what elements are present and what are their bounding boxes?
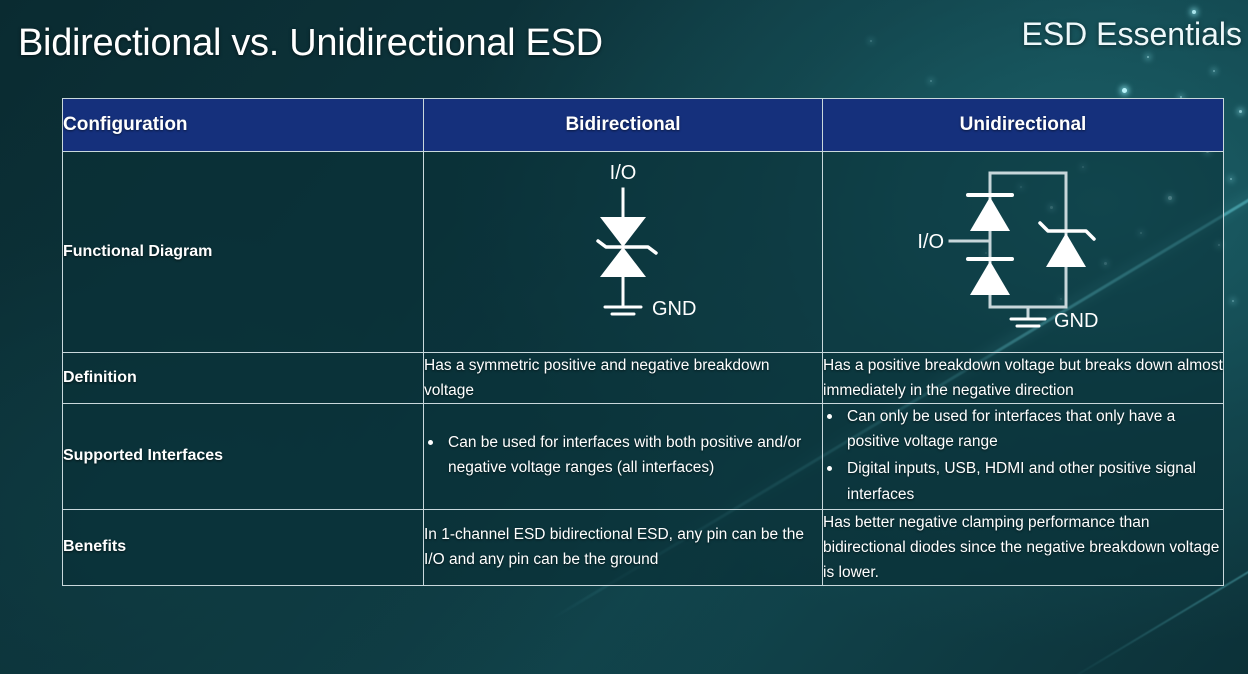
cell-bidirectional-benefits: In 1-channel ESD bidirectional ESD, any … — [424, 509, 823, 585]
cell-bidirectional-diagram: I/O GND — [424, 152, 823, 353]
row-label-benefits: Benefits — [63, 509, 424, 585]
cell-unidirectional-definition: Has a positive breakdown voltage but bre… — [823, 353, 1224, 404]
table-row: Benefits In 1-channel ESD bidirectional … — [63, 509, 1224, 585]
paragraph-text: Has a positive breakdown voltage but bre… — [823, 353, 1223, 403]
paragraph-text: Has better negative clamping performance… — [823, 510, 1223, 585]
comparison-table: Configuration Bidirectional Unidirection… — [62, 98, 1224, 586]
list-item: Digital inputs, USB, HDMI and other posi… — [823, 456, 1223, 506]
table-header: Configuration Bidirectional Unidirection… — [63, 99, 1224, 152]
table-row: Supported Interfaces Can be used for int… — [63, 404, 1224, 509]
table-row: Definition Has a symmetric positive and … — [63, 353, 1224, 404]
bullet-list: Can only be used for interfaces that onl… — [823, 404, 1223, 506]
series-label: ESD Essentials — [1021, 16, 1242, 53]
page-title: Bidirectional vs. Unidirectional ESD — [18, 22, 603, 65]
column-header-unidirectional: Unidirectional — [823, 99, 1224, 152]
title-bar: Bidirectional vs. Unidirectional ESD ESD… — [0, 0, 1248, 86]
row-label-supported-interfaces: Supported Interfaces — [63, 404, 424, 509]
paragraph-text: In 1-channel ESD bidirectional ESD, any … — [424, 522, 822, 572]
bidirectional-gnd-label: GND — [652, 298, 696, 320]
cell-bidirectional-supported-interfaces: Can be used for interfaces with both pos… — [424, 404, 823, 509]
table-body: Functional Diagram — [63, 152, 1224, 586]
cell-bidirectional-definition: Has a symmetric positive and negative br… — [424, 353, 823, 404]
table-header-row: Configuration Bidirectional Unidirection… — [63, 99, 1224, 152]
column-header-configuration: Configuration — [63, 99, 424, 152]
bidirectional-io-label: I/O — [610, 162, 637, 184]
unidirectional-gnd-label: GND — [1054, 310, 1098, 332]
bullet-list: Can be used for interfaces with both pos… — [424, 430, 822, 480]
cell-unidirectional-supported-interfaces: Can only be used for interfaces that onl… — [823, 404, 1224, 509]
cell-unidirectional-benefits: Has better negative clamping performance… — [823, 509, 1224, 585]
bidirectional-tvs-diode-schematic: I/O GND — [528, 155, 718, 345]
column-header-bidirectional: Bidirectional — [424, 99, 823, 152]
slide-canvas: Bidirectional vs. Unidirectional ESD ESD… — [0, 0, 1248, 674]
list-item: Can only be used for interfaces that onl… — [823, 404, 1223, 454]
unidirectional-steering-diode-schematic: I/O GND — [898, 155, 1148, 345]
table-row: Functional Diagram — [63, 152, 1224, 353]
row-label-definition: Definition — [63, 353, 424, 404]
cell-unidirectional-diagram: I/O GND — [823, 152, 1224, 353]
unidirectional-io-label: I/O — [917, 231, 944, 253]
paragraph-text: Has a symmetric positive and negative br… — [424, 353, 822, 403]
list-item: Can be used for interfaces with both pos… — [424, 430, 822, 480]
row-label-functional-diagram: Functional Diagram — [63, 152, 424, 353]
